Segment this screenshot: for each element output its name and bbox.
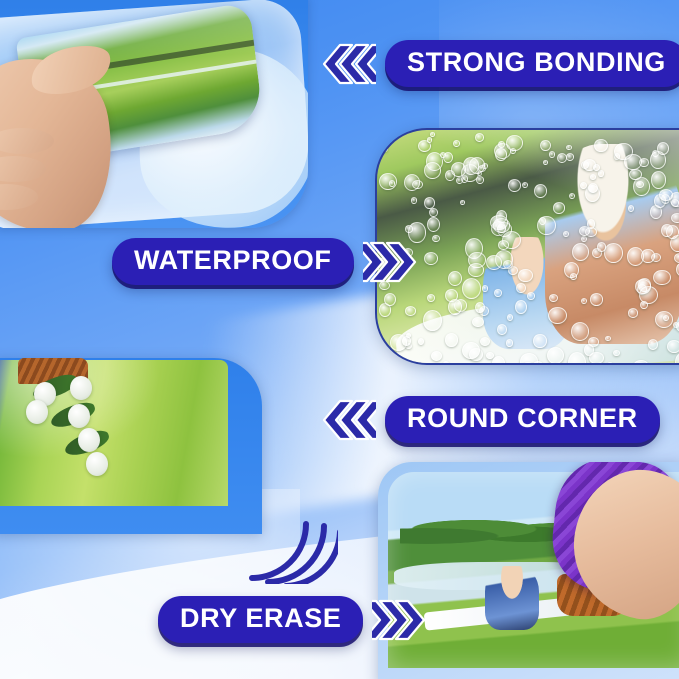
child-background	[545, 144, 679, 344]
white-flower	[68, 404, 90, 428]
water-droplet	[522, 182, 528, 188]
photo-dry-erase-caption: A hand holding a purple microfiber cloth…	[378, 462, 379, 463]
grass-photo-inner	[0, 360, 228, 506]
chevron-left-icon	[318, 399, 376, 441]
water-droplet	[461, 164, 479, 182]
water-droplet	[432, 235, 440, 242]
white-flower	[26, 400, 48, 424]
water-droplet	[405, 306, 416, 315]
water-droplet	[462, 278, 481, 299]
water-droplet	[506, 135, 522, 151]
water-droplet	[456, 177, 463, 184]
white-flower	[86, 452, 108, 476]
water-droplet	[508, 179, 521, 192]
water-droplet	[465, 238, 483, 260]
water-droplet	[490, 215, 507, 230]
water-droplet	[566, 145, 572, 150]
water-droplet	[418, 140, 431, 152]
water-droplet	[427, 217, 440, 232]
water-droplet	[429, 208, 438, 218]
water-droplet	[491, 221, 506, 235]
water-droplet	[534, 184, 547, 198]
feature-label-text: DRY ERASE	[158, 596, 363, 643]
feature-label-waterproof: WATERPROOF	[112, 238, 421, 285]
photo-dry-erase: A hand holding a purple microfiber cloth…	[378, 462, 679, 679]
water-droplet	[445, 289, 458, 302]
water-droplet	[497, 222, 513, 237]
water-droplet	[461, 175, 468, 182]
photo-waterproof: Close-up of a laminated photo of two chi…	[375, 128, 679, 365]
water-droplet	[379, 303, 391, 316]
water-droplet	[469, 157, 485, 174]
water-droplet	[380, 362, 393, 365]
water-droplet	[494, 143, 511, 159]
water-droplet	[478, 165, 486, 172]
water-droplet	[510, 148, 516, 154]
water-droplet	[476, 176, 484, 184]
baby	[485, 566, 539, 630]
water-droplet	[405, 225, 413, 232]
photo-waterproof-caption: Close-up of a laminated photo of two chi…	[377, 130, 378, 131]
chevron-right-icon	[372, 599, 430, 641]
water-droplet	[379, 173, 397, 190]
chevron-left-icon	[318, 43, 376, 85]
feature-label-dry-erase: DRY ERASE	[158, 596, 430, 643]
water-droplet	[411, 197, 417, 203]
water-droplet	[426, 152, 444, 171]
photo-strong-bonding: A hand holds a clear laminating pouch co…	[0, 0, 308, 228]
white-flower	[78, 428, 100, 452]
water-droplet	[468, 263, 484, 276]
water-droplet	[497, 224, 506, 233]
water-droplet	[453, 140, 460, 147]
water-droplet	[412, 180, 422, 189]
water-droplet	[384, 293, 396, 306]
water-droplet	[424, 252, 438, 265]
water-droplet	[543, 160, 548, 165]
water-droplet	[445, 170, 454, 181]
feature-label-text: WATERPROOF	[112, 238, 354, 285]
water-droplet	[496, 210, 508, 224]
water-droplet	[378, 345, 387, 354]
water-droplet	[460, 200, 465, 205]
photo-round-corner: Corner close-up of a laminated sheet wit…	[0, 358, 262, 534]
water-droplet	[657, 142, 670, 155]
water-droplet	[451, 162, 466, 177]
concentric-arc-swoosh-icon	[246, 492, 338, 584]
water-droplet	[482, 163, 488, 169]
flower-group	[0, 360, 228, 506]
water-droplet	[549, 151, 556, 158]
feature-label-text: STRONG BONDING	[385, 40, 679, 87]
water-droplet	[440, 152, 446, 158]
water-droplet	[382, 145, 388, 152]
water-droplet	[424, 162, 441, 178]
water-droplet	[540, 140, 551, 151]
water-droplet	[463, 157, 479, 174]
white-flower	[70, 376, 92, 400]
water-droplet	[468, 252, 485, 269]
water-droplet	[448, 271, 462, 286]
water-droplet	[427, 294, 435, 302]
water-droplet	[424, 197, 435, 209]
water-droplet	[404, 174, 420, 191]
water-droplet	[493, 218, 511, 233]
water-droplet	[430, 132, 435, 137]
water-droplet	[389, 180, 395, 186]
chevron-right-icon	[363, 241, 421, 283]
feature-collage-image: A hand holds a clear laminating pouch co…	[0, 0, 679, 679]
water-droplet	[498, 141, 505, 149]
water-droplet	[427, 137, 432, 142]
water-droplet	[443, 152, 454, 163]
water-droplet	[475, 133, 484, 141]
water-droplet	[495, 148, 507, 161]
feature-label-round-corner: ROUND CORNER	[318, 396, 660, 443]
feature-label-text: ROUND CORNER	[385, 396, 660, 443]
feature-label-strong-bonding: STRONG BONDING	[318, 40, 679, 87]
water-droplet	[477, 171, 482, 177]
